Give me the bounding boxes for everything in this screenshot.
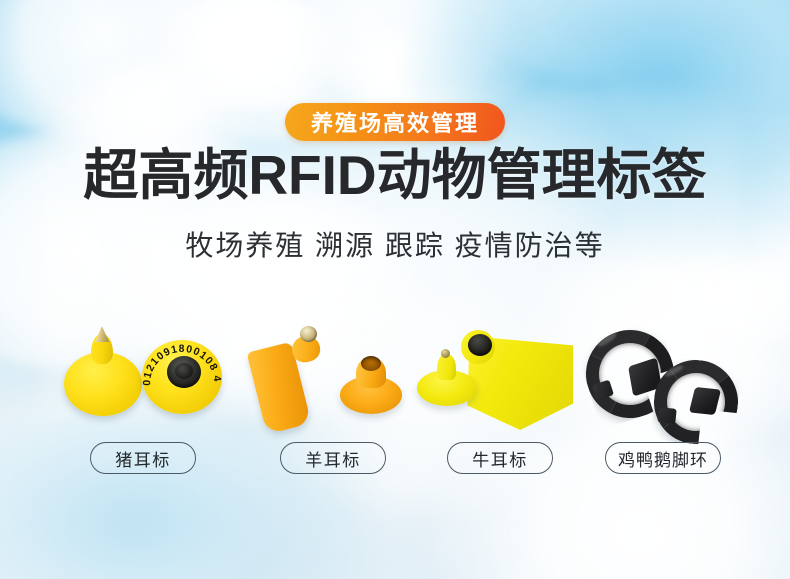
product-item-poultry[interactable]: 鸡鸭鹅脚环 xyxy=(578,320,748,495)
page-subtitle: 牧场养殖 溯源 跟踪 疫情防治等 xyxy=(0,224,790,264)
sheep-metal-pin-icon xyxy=(300,326,317,342)
product-banner: 养殖场高效管理 超高频RFID动物管理标签 牧场养殖 溯源 跟踪 疫情防治等 0… xyxy=(0,0,790,579)
product-label-pig[interactable]: 猪耳标 xyxy=(90,442,196,474)
sheep-label-wrap: 羊耳标 xyxy=(248,442,418,474)
cow-metal-pin-icon xyxy=(441,349,450,358)
product-label-cow[interactable]: 牛耳标 xyxy=(447,442,553,474)
product-label-sheep[interactable]: 羊耳标 xyxy=(280,442,386,474)
leg-ring-front-clip xyxy=(657,407,676,424)
sheep-button-hole xyxy=(361,356,381,371)
pig-rfid-core xyxy=(167,356,201,388)
poultry-label-wrap: 鸡鸭鹅脚环 xyxy=(578,442,748,474)
pig-metal-pin-icon xyxy=(95,326,109,342)
cow-button-neck xyxy=(437,354,456,380)
product-item-cow[interactable]: 牛耳标 xyxy=(415,320,585,495)
page-title: 超高频RFID动物管理标签 xyxy=(0,146,790,205)
poultry-leg-ring-image xyxy=(578,320,748,438)
pig-label-wrap: 猪耳标 xyxy=(58,442,228,474)
cow-label-wrap: 牛耳标 xyxy=(415,442,585,474)
product-item-pig[interactable]: 0121091800108 4 猪耳标 xyxy=(58,320,228,495)
cow-tag-hole xyxy=(468,334,492,356)
product-showcase: 0121091800108 4 猪耳标 羊耳标 xyxy=(0,320,790,495)
product-item-sheep[interactable]: 羊耳标 xyxy=(248,320,418,495)
promo-badge: 养殖场高效管理 xyxy=(285,103,505,141)
pig-ear-tag-image: 0121091800108 4 xyxy=(58,320,228,438)
product-label-poultry[interactable]: 鸡鸭鹅脚环 xyxy=(605,442,721,474)
sheep-ear-tag-image xyxy=(248,320,418,438)
cow-ear-tag-image xyxy=(415,320,585,438)
